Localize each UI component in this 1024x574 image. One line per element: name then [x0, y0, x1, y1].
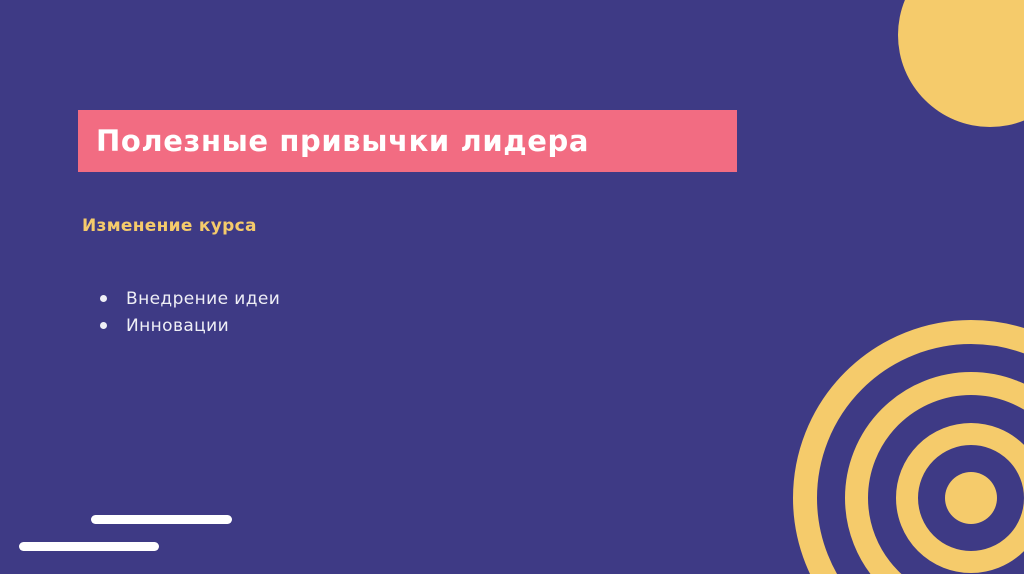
- dash-line-upper: [91, 515, 232, 524]
- bullet-dot-icon: [100, 322, 107, 329]
- section-subtitle: Изменение курса: [82, 216, 257, 236]
- list-item: Инновации: [100, 312, 280, 339]
- corner-circle-icon: [898, 0, 1024, 127]
- bullet-dot-icon: [100, 295, 107, 302]
- dash-line-lower: [19, 542, 159, 551]
- list-item: Внедрение идеи: [100, 285, 280, 312]
- presentation-slide: Полезные привычки лидера Изменение курса…: [0, 0, 1024, 574]
- title-banner: Полезные привычки лидера: [78, 110, 737, 172]
- list-item-label: Внедрение идеи: [126, 289, 280, 309]
- target-center-dot: [945, 472, 997, 524]
- bullet-list: Внедрение идеи Инновации: [100, 285, 280, 339]
- page-title: Полезные привычки лидера: [96, 124, 589, 158]
- list-item-label: Инновации: [126, 316, 229, 336]
